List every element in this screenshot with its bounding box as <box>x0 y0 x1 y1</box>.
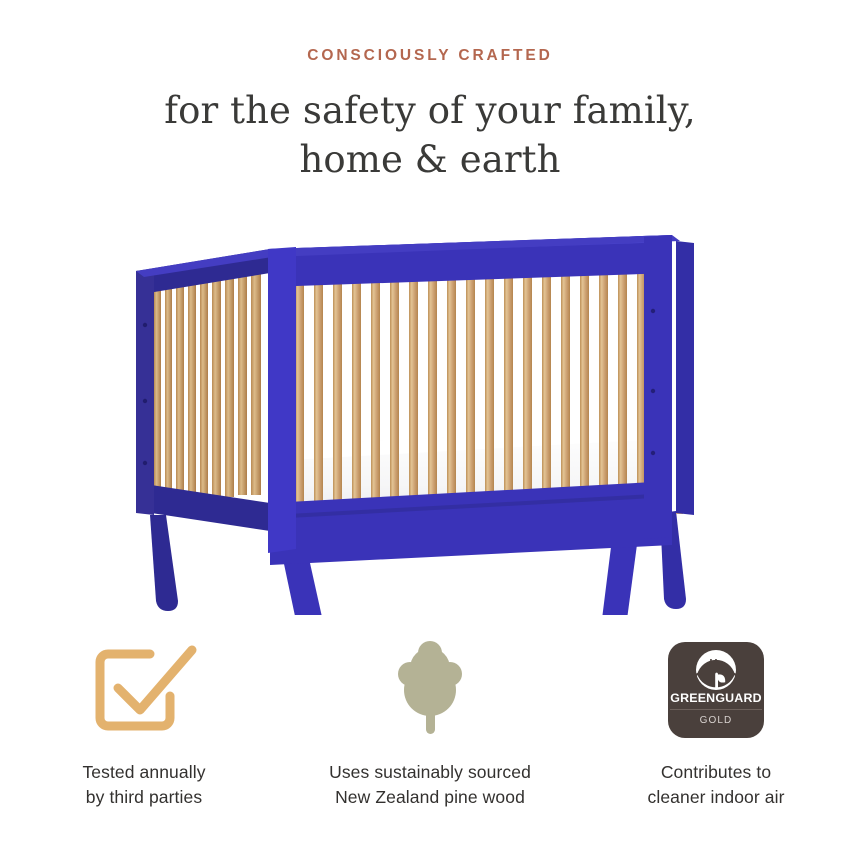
feature-tested-annually: Tested annually by third parties <box>1 636 287 811</box>
header: CONSCIOUSLY CRAFTED for the safety of yo… <box>0 48 860 184</box>
greenguard-tier-label: GOLD <box>700 716 733 726</box>
rear-left-post <box>136 269 154 515</box>
feature-icon-wrap <box>388 636 472 744</box>
leg-rear-left <box>150 515 178 611</box>
checkbox-check-icon <box>88 640 200 740</box>
leg-front-right <box>601 537 638 615</box>
greenguard-gold-badge-icon: U L GREENGUARD GOLD <box>668 642 764 738</box>
eyebrow-text: CONSCIOUSLY CRAFTED <box>0 48 860 64</box>
feature-caption-line-2: by third parties <box>82 785 205 810</box>
hardware-hole <box>143 399 147 403</box>
promo-page: CONSCIOUSLY CRAFTED for the safety of yo… <box>0 0 860 860</box>
feature-icon-wrap: U L GREENGUARD GOLD <box>668 636 764 744</box>
hardware-hole <box>651 309 655 313</box>
feature-caption-line-1: Tested annually <box>82 762 205 782</box>
feature-caption-line-2: New Zealand pine wood <box>329 785 531 810</box>
crib-illustration <box>120 215 740 615</box>
hardware-hole <box>143 461 147 465</box>
feature-icon-wrap <box>88 636 200 744</box>
front-left-post <box>268 247 296 553</box>
badge-divider <box>670 709 762 710</box>
headline-line-2: home & earth <box>0 135 860 184</box>
feature-caption-line-1: Contributes to <box>661 762 771 782</box>
tree-lobe-right <box>438 662 462 686</box>
tree-lobe-left <box>398 662 422 686</box>
product-image-crib <box>0 215 860 625</box>
page-title: for the safety of your family, home & ea… <box>0 86 860 184</box>
feature-caption: Uses sustainably sourced New Zealand pin… <box>329 760 531 811</box>
tree-icon <box>388 640 472 740</box>
feature-list: Tested annually by third parties <box>0 636 860 811</box>
feature-sustainable-wood: Uses sustainably sourced New Zealand pin… <box>287 636 573 811</box>
hardware-hole <box>143 323 147 327</box>
front-right-post <box>644 235 672 539</box>
tree-lobe-top <box>418 641 442 665</box>
feature-caption-line-1: Uses sustainably sourced <box>329 762 531 782</box>
hardware-hole <box>651 389 655 393</box>
greenguard-wordmark: GREENGUARD <box>670 692 762 704</box>
headline-line-1: for the safety of your family, <box>164 89 695 132</box>
rear-right-post <box>676 241 694 515</box>
feature-caption: Tested annually by third parties <box>82 760 205 811</box>
crib-side-panel <box>136 237 270 531</box>
feature-caption: Contributes to cleaner indoor air <box>647 760 784 811</box>
ul-mark-icon: U L <box>695 649 737 691</box>
feature-caption-line-2: cleaner indoor air <box>647 785 784 810</box>
ul-letter-l: L <box>717 662 723 673</box>
feature-greenguard-gold: U L GREENGUARD GOLD Contributes to clean… <box>573 636 859 811</box>
hardware-hole <box>651 451 655 455</box>
